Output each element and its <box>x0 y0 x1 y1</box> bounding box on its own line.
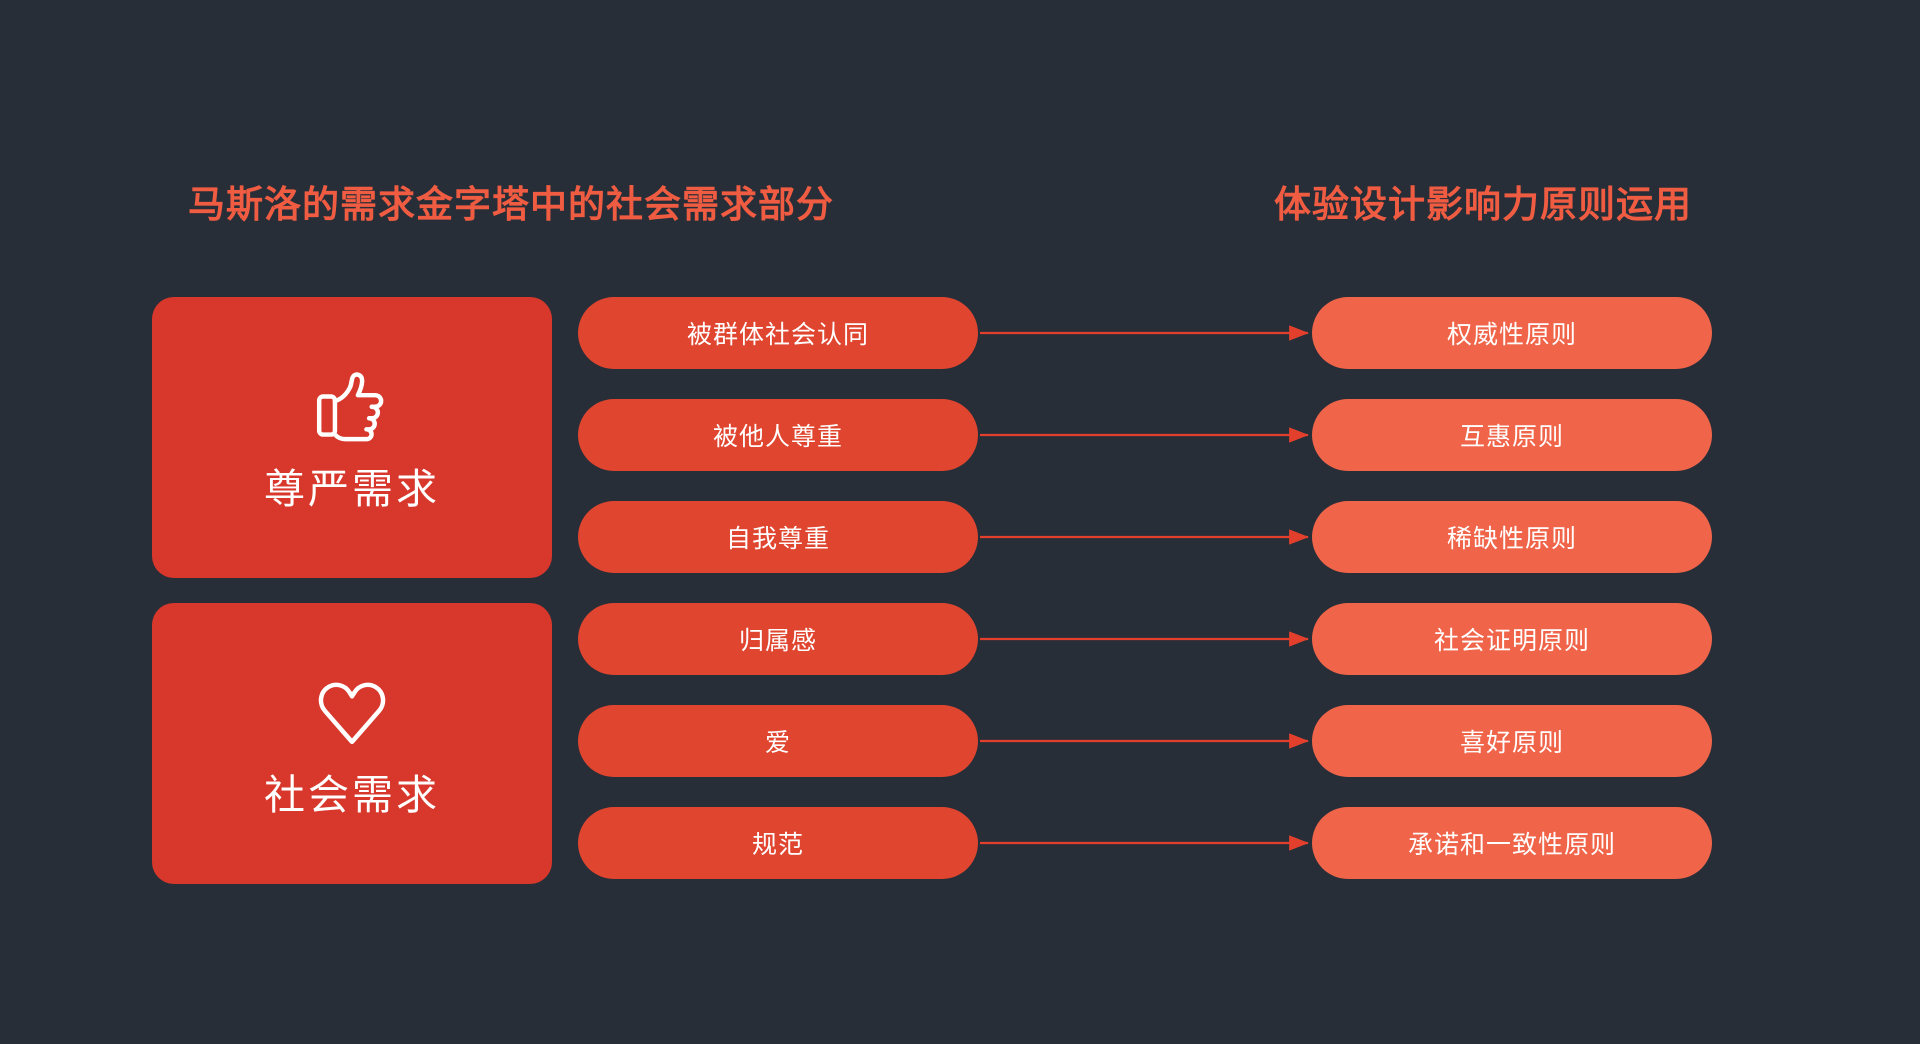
need-pill[interactable]: 自我尊重 <box>578 501 978 573</box>
need-category-card-social[interactable]: 社会需求 <box>152 603 552 884</box>
principle-pill-label: 稀缺性原则 <box>1447 519 1577 555</box>
principle-pill-label: 承诺和一致性原则 <box>1408 825 1616 861</box>
left-column-heading: 马斯洛的需求金字塔中的社会需求部分 <box>188 174 834 228</box>
principle-pill[interactable]: 权威性原则 <box>1312 297 1712 369</box>
need-pill[interactable]: 爱 <box>578 705 978 777</box>
principle-pill[interactable]: 社会证明原则 <box>1312 603 1712 675</box>
need-pill-label: 规范 <box>752 825 804 861</box>
principle-pill[interactable]: 互惠原则 <box>1312 399 1712 471</box>
principle-pill[interactable]: 喜好原则 <box>1312 705 1712 777</box>
principle-pill[interactable]: 稀缺性原则 <box>1312 501 1712 573</box>
principle-pill-label: 权威性原则 <box>1447 315 1577 351</box>
need-category-card-esteem[interactable]: 尊严需求 <box>152 297 552 578</box>
need-pill-label: 自我尊重 <box>726 519 830 555</box>
principle-pill-label: 喜好原则 <box>1460 723 1564 759</box>
right-column-heading: 体验设计影响力原则运用 <box>1274 174 1692 228</box>
need-category-card-list: 尊严需求 社会需求 <box>152 297 552 884</box>
principle-pill-list: 权威性原则 互惠原则 稀缺性原则 社会证明原则 喜好原则 承诺和一致性原则 <box>1312 297 1712 879</box>
need-category-label: 尊严需求 <box>264 469 440 510</box>
need-pill[interactable]: 被群体社会认同 <box>578 297 978 369</box>
need-category-label: 社会需求 <box>264 775 440 816</box>
need-pill[interactable]: 归属感 <box>578 603 978 675</box>
need-pill-label: 爱 <box>765 723 791 759</box>
principle-pill-label: 社会证明原则 <box>1434 621 1590 657</box>
need-pill-label: 被群体社会认同 <box>687 315 869 351</box>
need-pill[interactable]: 规范 <box>578 807 978 879</box>
need-pill-list: 被群体社会认同 被他人尊重 自我尊重 归属感 爱 规范 <box>578 297 978 879</box>
need-pill-label: 归属感 <box>739 621 817 657</box>
principle-pill-label: 互惠原则 <box>1460 417 1564 453</box>
principle-pill[interactable]: 承诺和一致性原则 <box>1312 807 1712 879</box>
diagram-canvas: 马斯洛的需求金字塔中的社会需求部分 体验设计影响力原则运用 尊严需求 社会需求 <box>0 0 1920 1044</box>
thumbs-up-icon <box>310 365 394 449</box>
need-pill[interactable]: 被他人尊重 <box>578 399 978 471</box>
need-pill-label: 被他人尊重 <box>713 417 843 453</box>
heart-icon <box>310 671 394 755</box>
